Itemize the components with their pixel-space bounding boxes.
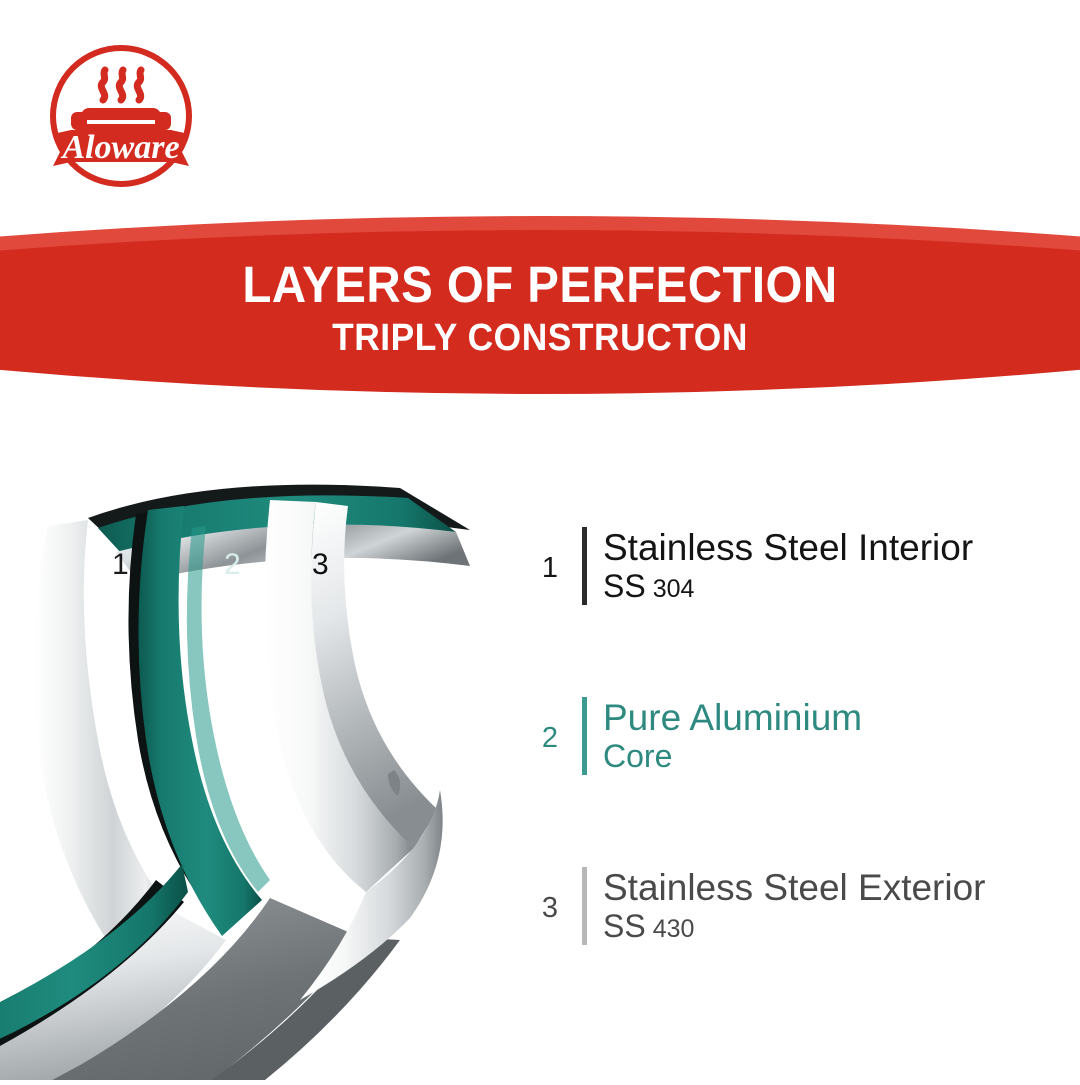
- cookware-cross-section-icon: [0, 440, 510, 1080]
- legend-subtitle-prefix-3: SS: [603, 908, 646, 944]
- legend-title-1: Stainless Steel Interior: [603, 528, 1070, 568]
- brand-logo: Aloware: [47, 42, 195, 190]
- steaming-pot-badge-icon: Aloware: [47, 42, 195, 190]
- legend-subtitle-3: SS430: [603, 909, 1070, 945]
- legend-grade-1: 304: [653, 575, 695, 603]
- legend-text-3: Stainless Steel Exterior SS430: [603, 868, 1070, 945]
- legend-subtitle-prefix-1: SS: [603, 568, 646, 604]
- legend-divider-2: [582, 697, 587, 775]
- legend-index-3: 3: [530, 890, 570, 923]
- legend-item-pure-aluminium-core: 2 Pure Aluminium Core: [530, 682, 1070, 790]
- legend-grade-3: 430: [653, 915, 695, 943]
- legend-text-2: Pure Aluminium Core: [603, 698, 1070, 775]
- banner-body: [0, 230, 1080, 394]
- brand-wordmark: Aloware: [60, 129, 179, 166]
- legend-subtitle-2: Core: [603, 739, 1070, 775]
- legend-index-1: 1: [530, 550, 570, 583]
- legend-subtitle-1: SS304: [603, 569, 1070, 605]
- legend-item-stainless-steel-exterior: 3 Stainless Steel Exterior SS430: [530, 852, 1070, 960]
- product-cutaway-illustration: [0, 440, 510, 1080]
- legend-index-2: 2: [530, 720, 570, 753]
- legend-title-2: Pure Aluminium: [603, 698, 1070, 738]
- legend-title-3: Stainless Steel Exterior: [603, 868, 1070, 908]
- legend-divider-3: [582, 867, 587, 945]
- legend-divider-1: [582, 527, 587, 605]
- legend-item-stainless-steel-interior: 1 Stainless Steel Interior SS304: [530, 512, 1070, 620]
- legend-text-1: Stainless Steel Interior SS304: [603, 528, 1070, 605]
- legend-subtitle-prefix-2: Core: [603, 738, 672, 774]
- title-banner: [0, 208, 1080, 420]
- banner-shape: [0, 208, 1080, 420]
- layer-legend: 1 Stainless Steel Interior SS304 2 Pure …: [530, 512, 1070, 1022]
